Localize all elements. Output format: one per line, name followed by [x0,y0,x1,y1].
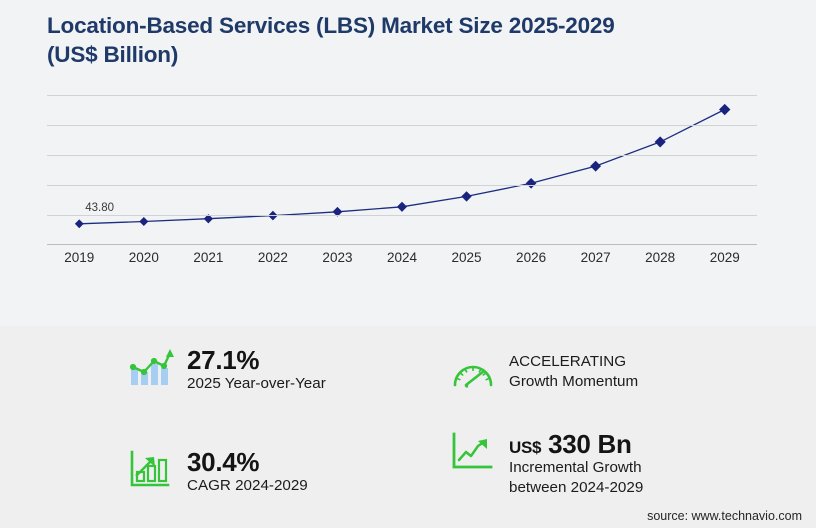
stat-incremental-growth: US$ 330 Bn Incremental Growth between 20… [450,430,643,498]
chart-gridline [47,185,757,186]
x-axis-tick-label: 2019 [64,250,94,265]
source-attribution: source: www.technavio.com [647,509,802,523]
chart-data-point [590,161,601,172]
chart-data-point [461,191,471,201]
speedometer-icon [450,352,496,394]
stat-incremental-number: 330 Bn [548,429,631,459]
x-axis-line [47,244,757,245]
chart-series-svg [47,95,757,245]
x-axis-tick-label: 2028 [645,250,675,265]
stat-incremental-unit: US$ [509,438,541,457]
chart-data-point [655,136,666,147]
stat-momentum: ACCELERATING Growth Momentum [450,352,638,394]
stat-yoy: 27.1% 2025 Year-over-Year [128,346,326,394]
chart-data-point [139,217,148,226]
x-axis-labels: 2019202020212022202320242025202620272028… [47,250,757,280]
stat-yoy-label: 2025 Year-over-Year [187,374,326,394]
page-title-line2: (US$ Billion) [47,41,747,70]
chart-gridline [47,155,757,156]
chart-data-point [397,202,407,212]
cagr-bar-chart-icon [128,448,174,490]
chart-data-point [75,219,84,228]
stat-momentum-label: Growth Momentum [509,372,638,392]
stat-cagr: 30.4% CAGR 2024-2029 [128,448,308,496]
page-title-line1: Location-Based Services (LBS) Market Siz… [47,12,747,41]
chart-plot-area: 43.80 [47,95,757,245]
x-axis-tick-label: 2029 [710,250,740,265]
chart-gridline [47,95,757,96]
x-axis-tick-label: 2027 [581,250,611,265]
x-axis-tick-label: 2020 [129,250,159,265]
stats-panel [0,326,816,528]
chart-value-label: 43.80 [85,202,114,214]
stat-yoy-value: 27.1% [187,346,326,374]
x-axis-tick-label: 2021 [193,250,223,265]
bar-chart-growth-icon [128,346,174,388]
stat-momentum-value: ACCELERATING [509,352,638,372]
x-axis-tick-label: 2026 [516,250,546,265]
x-axis-tick-label: 2025 [452,250,482,265]
infographic-root: Location-Based Services (LBS) Market Siz… [0,0,816,528]
chart-data-point [719,104,730,115]
stat-cagr-value: 30.4% [187,448,308,476]
incremental-growth-icon [450,430,496,472]
stat-incremental-label-2: between 2024-2029 [509,478,643,498]
x-axis-tick-label: 2024 [387,250,417,265]
page-title: Location-Based Services (LBS) Market Siz… [47,12,747,70]
stat-incremental-label-1: Incremental Growth [509,458,643,478]
x-axis-tick-label: 2023 [322,250,352,265]
stat-incremental-value: US$ 330 Bn [509,430,643,458]
stat-cagr-label: CAGR 2024-2029 [187,476,308,496]
chart-data-point [526,178,537,189]
chart-gridline [47,215,757,216]
chart-gridline [47,125,757,126]
line-chart: 43.80 2019202020212022202320242025202620… [0,95,816,285]
x-axis-tick-label: 2022 [258,250,288,265]
